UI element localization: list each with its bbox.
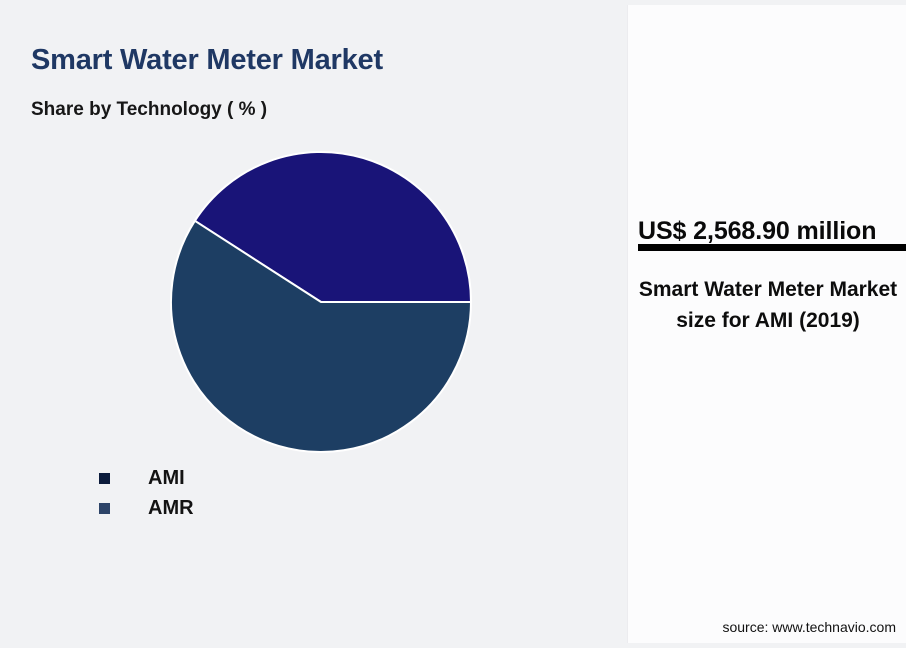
legend-swatch-amr (99, 503, 110, 514)
pie-chart (0, 0, 627, 648)
legend-label-amr: AMR (148, 497, 194, 520)
kpi-value: US$ 2,568.90 million (638, 217, 906, 246)
pie-chart-svg (160, 140, 490, 470)
legend-item-ami[interactable]: AMI (99, 463, 194, 493)
kpi-divider-rule (638, 244, 906, 251)
chart-panel: Smart Water Meter Market Share by Techno… (0, 0, 627, 648)
legend-label-ami: AMI (148, 467, 185, 490)
legend: AMI AMR (99, 463, 194, 523)
pie-slice-group (171, 152, 471, 452)
kpi-caption: Smart Water Meter Market size for AMI (2… (634, 274, 902, 336)
kpi-panel: US$ 2,568.90 million Smart Water Meter M… (627, 5, 906, 643)
legend-swatch-ami (99, 473, 110, 484)
source-note: source: www.technavio.com (628, 619, 896, 635)
chart-page: Smart Water Meter Market Share by Techno… (0, 0, 906, 648)
legend-item-amr[interactable]: AMR (99, 493, 194, 523)
